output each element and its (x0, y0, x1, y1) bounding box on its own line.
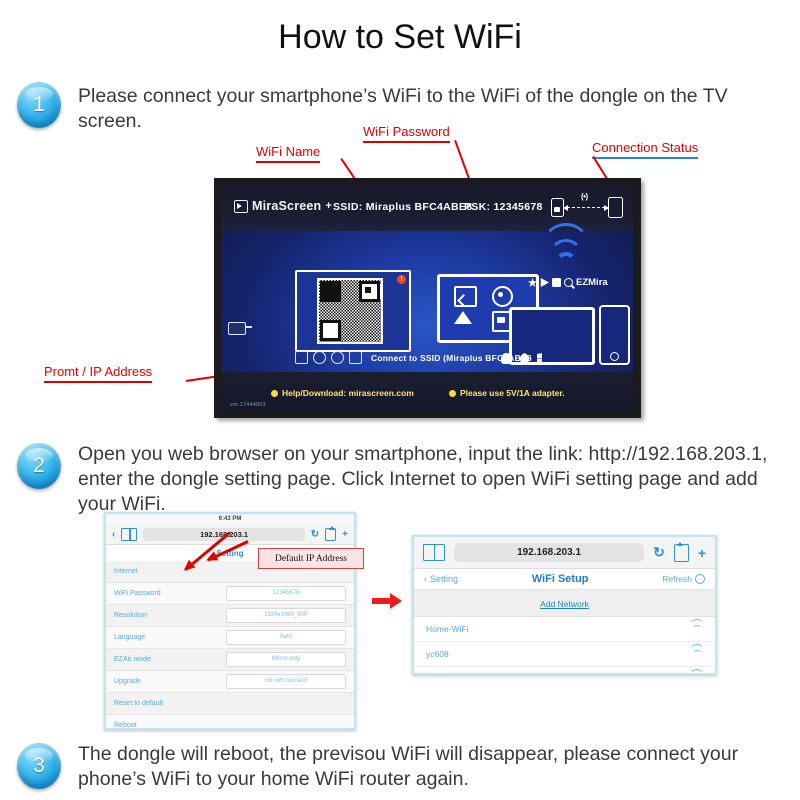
qr-finder-icon (359, 281, 380, 302)
book-icon (349, 351, 362, 364)
usb-plug-icon (228, 322, 246, 335)
step-2-text: Open you web browser on your smartphone,… (78, 442, 778, 517)
phone-graphic (599, 305, 630, 365)
page-title: How to Set WiFi (0, 18, 800, 57)
row-label: Language (114, 634, 145, 641)
wifi-signal-icon (690, 624, 703, 634)
network-name: 508 (426, 674, 440, 675)
android-icon (501, 353, 512, 364)
flow-arrow-icon (372, 593, 402, 609)
add-network-button[interactable]: Add Network (414, 590, 715, 617)
network-row-yc608[interactable]: yc608 (414, 642, 715, 667)
row-label: Internet (114, 568, 138, 575)
row-value[interactable]: not wifi connect! (226, 674, 346, 689)
screenshot-setting-page: 6:43 PM ‹ 192.168.203.1 ↻ + Setting Inte… (104, 512, 356, 730)
tv-device: MiraScreen + SSID: Miraplus BFC4ABE8 PSK… (214, 178, 641, 418)
cast-app-icon (454, 286, 477, 307)
step-badge-3-number: 3 (33, 754, 45, 778)
back-chevron-icon[interactable]: ‹ (112, 529, 115, 540)
browser-navbar: ‹ 192.168.203.1 ↻ + (106, 525, 354, 545)
network-name: Home-WiFi (426, 624, 469, 634)
bookmarks-icon[interactable] (121, 528, 137, 541)
network-row-home-wifi[interactable]: Home-WiFi (414, 617, 715, 642)
adapter-dot-icon (449, 390, 456, 397)
globe-icon (313, 351, 326, 364)
new-tab-icon[interactable]: + (342, 529, 348, 540)
tv-help-text: Help/Download: mirascreen.com (282, 388, 414, 398)
network-row-508[interactable]: 508 (414, 667, 715, 675)
row-value[interactable]: 1920x1080_60P (226, 608, 346, 623)
step-badge-2: 2 (17, 443, 61, 489)
wifi-setup-title: WiFi Setup (532, 573, 589, 585)
ezmira-label: EZMira (576, 277, 608, 288)
bookmarks-icon[interactable] (423, 544, 445, 561)
step-badge-3: 3 (17, 743, 61, 789)
share-icon[interactable] (674, 544, 689, 562)
tv-adapter-text: Please use 5V/1A adapter. (460, 388, 565, 398)
annotation-wifi-password: WiFi Password (363, 124, 450, 143)
tv-version-text: ver.17444003 (230, 402, 266, 408)
url-input[interactable]: 192.168.203.1 (454, 543, 644, 562)
back-to-setting-button[interactable]: ‹ Setting (424, 574, 458, 584)
step-3-text: The dongle will reboot, the previsou WiF… (78, 742, 778, 792)
lock-icon (552, 278, 561, 287)
brand-plus: + (325, 200, 332, 212)
ezmira-row: EZMira (528, 277, 608, 288)
qr-code (317, 278, 383, 344)
row-label: EZAir mode (114, 656, 151, 663)
infographic-page: How to Set WiFi 1 Please connect your sm… (0, 0, 800, 800)
screenshot-wifi-setup-page: 192.168.203.1 ↻ + ‹ Setting WiFi Setup R… (412, 535, 717, 675)
tv-screen: MiraScreen + SSID: Miraplus BFC4ABE8 PSK… (221, 185, 633, 412)
back-label: Setting (430, 574, 458, 584)
signal-badge-icon: (•) (581, 192, 588, 201)
wifi-signal-icon (690, 674, 703, 675)
setting-row-resolution[interactable]: Resolution 1920x1080_60P (106, 605, 354, 627)
brand-name: MiraScreen (252, 199, 321, 213)
gear-icon (295, 351, 308, 364)
share-icon[interactable] (325, 528, 336, 541)
annotation-prompt-ip: Promt / IP Address (44, 364, 152, 383)
airplay-icon (528, 278, 537, 287)
refresh-icon (695, 574, 705, 584)
annotation-connection-status: Connection Status (592, 140, 698, 159)
tv-ssid-text: SSID: Miraplus BFC4ABE8 (333, 201, 472, 213)
tv-os-row (501, 353, 548, 364)
wifi-setup-header: ‹ Setting WiFi Setup Refresh (414, 569, 715, 590)
qr-alert-badge: ! (397, 275, 406, 284)
cast-icon (234, 200, 248, 213)
reload-icon[interactable]: ↻ (311, 529, 319, 540)
reload-icon[interactable]: ↻ (653, 544, 665, 561)
wifi-signal-icon (690, 649, 703, 659)
tv-help-row: Help/Download: mirascreen.com (271, 388, 414, 398)
qr-pattern (319, 280, 381, 342)
setting-row-wifi-password[interactable]: WiFi Password 12345678 (106, 583, 354, 605)
step-badge-1: 1 (17, 82, 61, 128)
refresh-label: Refresh (662, 574, 692, 584)
phone-icon (608, 197, 623, 218)
setting-row-ezair-mode[interactable]: EZAir mode Mirror only (106, 649, 354, 671)
media-app-icon (492, 286, 513, 307)
new-tab-icon[interactable]: + (698, 545, 706, 561)
browser-navbar: 192.168.203.1 ↻ + (414, 537, 715, 569)
qr-panel: ! (295, 270, 411, 352)
tv-connection-status: (•) (551, 195, 623, 221)
wifi-signal-icon (543, 247, 589, 273)
link-arrow-icon (567, 207, 605, 208)
status-bar-time: 6:43 PM (106, 514, 354, 525)
row-value[interactable]: 12345678 (226, 586, 346, 601)
annotation-wifi-name: WiFi Name (256, 144, 320, 163)
help-dot-icon (271, 390, 278, 397)
tv-connect-row: Connect to SSID (Miraplus BFC4ABE8 (295, 351, 532, 364)
row-label: WiFi Password (114, 590, 161, 597)
search-icon (564, 278, 573, 287)
apple-icon (519, 353, 530, 364)
row-label: Reboot (114, 722, 137, 729)
step-badge-1-number: 1 (33, 93, 45, 117)
refresh-button[interactable]: Refresh (662, 574, 705, 584)
row-value[interactable]: Auto (226, 630, 346, 645)
row-label: Upgrade (114, 678, 141, 685)
tv-psk-text: PSK: 12345678 (464, 201, 543, 213)
setting-row-reset-to-default[interactable]: Reset to default (106, 693, 354, 715)
check-icon (331, 351, 344, 364)
windows-icon (537, 353, 548, 364)
play-icon (540, 278, 549, 287)
row-value[interactable]: Mirror only (226, 652, 346, 667)
row-label: Resolution (114, 612, 147, 619)
setting-row-language[interactable]: Language Auto (106, 627, 354, 649)
mirascreen-logo: MiraScreen + (234, 199, 332, 213)
network-name: yc608 (426, 649, 449, 659)
tv-adapter-row: Please use 5V/1A adapter. (449, 388, 565, 398)
home-app-icon (454, 311, 472, 324)
step-badge-2-number: 2 (33, 454, 45, 478)
setting-row-reboot[interactable]: Reboot (106, 715, 354, 730)
setting-row-upgrade[interactable]: Upgrade not wifi connect! (106, 671, 354, 693)
add-network-label: Add Network (540, 599, 589, 609)
row-label: Reset to default (114, 700, 163, 707)
back-chevron-icon: ‹ (424, 574, 427, 584)
callout-default-ip: Default IP Address (258, 548, 364, 569)
